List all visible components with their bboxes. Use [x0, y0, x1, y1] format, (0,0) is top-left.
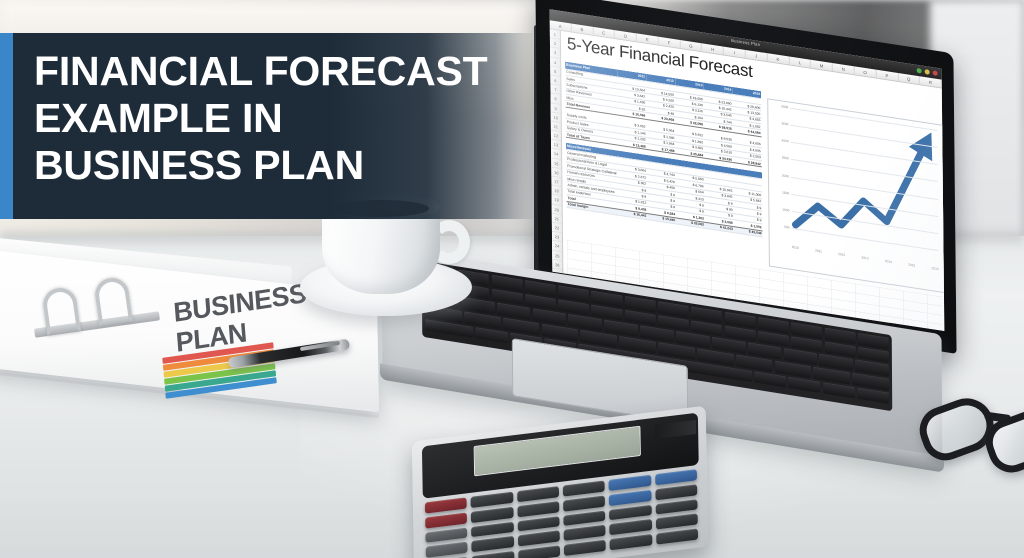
calculator-key[interactable]	[656, 514, 698, 530]
calculator-key[interactable]	[610, 519, 652, 535]
keyboard-key[interactable]	[754, 371, 786, 388]
keyboard-key[interactable]	[823, 382, 855, 399]
calculator-key[interactable]	[563, 495, 605, 511]
calculator-key[interactable]	[471, 521, 513, 537]
chart-x-tick-label: 2016	[932, 266, 939, 279]
chart-x-tick-label: 2013	[861, 255, 868, 268]
calculator-key[interactable]	[655, 499, 697, 515]
keyboard-key[interactable]	[476, 327, 508, 344]
chart-plot-area: 4000350030002500200015001000500	[790, 108, 938, 267]
calculator-key[interactable]	[609, 490, 651, 506]
chart-y-tick-label: 3500	[781, 121, 788, 126]
chart-y-tick-label: 3000	[781, 139, 788, 144]
chart-y-tick-label: 2000	[782, 173, 789, 178]
calculator-key[interactable]	[517, 501, 559, 517]
calculator-key[interactable]	[564, 525, 606, 541]
chart-x-tick-label: 2012	[838, 252, 845, 265]
calculator-key[interactable]	[609, 505, 651, 521]
chart-x-tick-label: 2014	[885, 259, 892, 272]
chart-y-tick-label: 4000	[781, 104, 788, 109]
calculator-key[interactable]	[426, 542, 468, 558]
chart-y-tick-label: 2500	[782, 156, 789, 161]
page-title: FINANCIAL FORECAST EXAMPLE IN BUSINESS P…	[34, 48, 534, 189]
window-controls[interactable]	[917, 68, 938, 76]
chart-x-tick-label: 2015	[908, 263, 915, 276]
calculator-key[interactable]	[471, 507, 513, 523]
keyboard-key[interactable]	[857, 387, 889, 404]
red-dot-icon[interactable]	[933, 70, 938, 76]
calculator-key[interactable]	[655, 484, 697, 500]
keyboard-key[interactable]	[788, 377, 820, 394]
green-dot-icon[interactable]	[917, 68, 922, 74]
photo-scene: Business Plan ABCDEFGHIJKLMNOPQR 1234567…	[0, 0, 1024, 558]
calculator-key[interactable]	[517, 516, 559, 532]
banner-accent-bar	[0, 33, 13, 219]
calculator-key[interactable]	[518, 531, 560, 547]
yellow-dot-icon[interactable]	[925, 69, 930, 75]
chart-y-tick-label: 500	[784, 225, 789, 230]
row-header[interactable]: 26	[552, 259, 562, 270]
chart-y-tick-label: 1500	[782, 190, 789, 195]
calculator-key[interactable]	[425, 527, 467, 543]
calculator-key[interactable]	[425, 512, 467, 528]
calculator-key[interactable]	[472, 536, 514, 552]
forecast-chart[interactable]: 4000350030002500200015001000500 20102011…	[767, 98, 944, 293]
calculator-key[interactable]	[518, 546, 560, 558]
calculator-key[interactable]	[472, 551, 514, 558]
financial-table[interactable]: Business Plan20112012201320142015Consult…	[565, 62, 763, 238]
chart-x-tick-label: 2010	[792, 245, 799, 258]
chart-y-tick-label: 1000	[782, 207, 789, 212]
calculator-key[interactable]	[563, 510, 605, 526]
window-title: Business Plan	[731, 38, 760, 47]
chart-x-tick-label: 2011	[815, 248, 822, 261]
